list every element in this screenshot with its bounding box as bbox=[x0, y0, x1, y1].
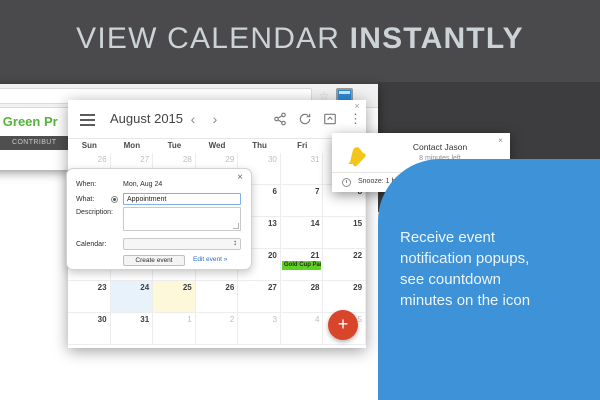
calendar-day-cell[interactable]: 28 bbox=[281, 281, 324, 313]
day-number: 21 bbox=[311, 251, 320, 260]
calendar-day-cell[interactable]: 14 bbox=[281, 217, 324, 249]
day-number: 27 bbox=[140, 155, 149, 164]
calendar-day-cell[interactable]: 25 bbox=[153, 281, 196, 313]
day-number: 25 bbox=[183, 283, 192, 292]
day-number: 15 bbox=[353, 219, 362, 228]
calendar-day-cell[interactable]: 1 bbox=[153, 313, 196, 345]
calendar-day-cell[interactable]: 24 bbox=[111, 281, 154, 313]
day-number: 29 bbox=[225, 155, 234, 164]
hamburger-icon[interactable] bbox=[80, 114, 95, 125]
day-number: 28 bbox=[183, 155, 192, 164]
day-number: 30 bbox=[268, 155, 277, 164]
calendar-day-cell[interactable]: 26 bbox=[196, 281, 239, 313]
banner-title: VIEW CALENDAR INSTANTLY bbox=[0, 22, 600, 56]
weekday-thu: Thu bbox=[238, 139, 281, 153]
more-options-icon[interactable]: ⋮ bbox=[348, 112, 363, 127]
day-number: 6 bbox=[272, 187, 276, 196]
calendar-day-cell[interactable]: 23 bbox=[68, 281, 111, 313]
day-number: 4 bbox=[315, 315, 319, 324]
weekday-fri: Fri bbox=[281, 139, 324, 153]
promo-panel: Receive event notification popups, see c… bbox=[378, 159, 600, 400]
bell-icon bbox=[344, 145, 370, 169]
day-number: 20 bbox=[268, 251, 277, 260]
calendar-day-cell[interactable]: 30 bbox=[68, 313, 111, 345]
day-number: 22 bbox=[353, 251, 362, 260]
calendar-day-cell[interactable]: 21Gold Cup Para bbox=[281, 249, 324, 281]
screenshot-stage: VIEW CALENDAR INSTANTLY ☆ he Green Pr SS… bbox=[0, 0, 600, 400]
quick-add-event-bubble: × When: Mon, Aug 24 What: Appointment De… bbox=[66, 168, 252, 270]
weekday-tue: Tue bbox=[153, 139, 196, 153]
promo-line-3: see countdown bbox=[400, 269, 596, 290]
day-number: 31 bbox=[140, 315, 149, 324]
site-nav-item-2[interactable]: CONTRIBUT bbox=[12, 139, 56, 146]
calendar-day-cell[interactable]: 27 bbox=[238, 281, 281, 313]
description-label: Description: bbox=[76, 209, 113, 216]
weekday-sun: Sun bbox=[68, 139, 111, 153]
weekday-mon: Mon bbox=[111, 139, 154, 153]
calendar-day-cell[interactable]: 15 bbox=[323, 217, 366, 249]
when-value: Mon, Aug 24 bbox=[123, 181, 162, 188]
banner-title-light: VIEW CALENDAR bbox=[76, 22, 350, 55]
share-icon[interactable] bbox=[273, 112, 288, 127]
calendar-day-cell[interactable]: 22 bbox=[323, 249, 366, 281]
day-number: 27 bbox=[268, 283, 277, 292]
next-month-button[interactable]: › bbox=[208, 111, 222, 127]
calendar-week-row: 23242526272829 bbox=[68, 281, 366, 313]
day-number: 5 bbox=[358, 315, 362, 324]
when-label: When: bbox=[76, 181, 96, 188]
calendar-label: Calendar: bbox=[76, 241, 106, 248]
what-label: What: bbox=[76, 196, 94, 203]
promo-banner: VIEW CALENDAR INSTANTLY bbox=[0, 0, 600, 82]
event-chip[interactable]: Gold Cup Para bbox=[282, 261, 322, 270]
month-label: August 2015 bbox=[110, 111, 183, 126]
day-number: 7 bbox=[315, 187, 319, 196]
day-number: 14 bbox=[311, 219, 320, 228]
close-icon[interactable]: × bbox=[235, 173, 245, 183]
description-input[interactable] bbox=[123, 207, 241, 231]
day-number: 30 bbox=[98, 315, 107, 324]
refresh-icon[interactable] bbox=[298, 112, 313, 127]
weekday-wed: Wed bbox=[196, 139, 239, 153]
day-number: 29 bbox=[353, 283, 362, 292]
day-number: 23 bbox=[98, 283, 107, 292]
calendar-week-row: 303112345 bbox=[68, 313, 366, 345]
prev-month-button[interactable]: ‹ bbox=[186, 111, 200, 127]
weekday-header-row: SunMonTueWedThuFriSat bbox=[68, 139, 366, 153]
create-event-button[interactable]: Create event bbox=[123, 255, 185, 266]
calendar-day-cell[interactable]: 29 bbox=[323, 281, 366, 313]
calendar-day-cell[interactable]: 31 bbox=[281, 153, 324, 185]
notification-title: Contact Jason bbox=[380, 142, 500, 152]
promo-line-4: minutes on the icon bbox=[400, 290, 596, 311]
promo-text: Receive event notification popups, see c… bbox=[400, 227, 596, 311]
clock-icon bbox=[342, 178, 351, 187]
day-number: 13 bbox=[268, 219, 277, 228]
calendar-select[interactable] bbox=[123, 238, 241, 250]
day-number: 26 bbox=[225, 283, 234, 292]
calendar-day-cell[interactable]: 31 bbox=[111, 313, 154, 345]
calendar-header: August 2015 ‹ › ⋮ bbox=[68, 108, 366, 136]
calendar-day-cell[interactable]: 3 bbox=[238, 313, 281, 345]
day-number: 24 bbox=[140, 283, 149, 292]
day-number: 2 bbox=[230, 315, 234, 324]
banner-title-bold: INSTANTLY bbox=[350, 22, 524, 55]
event-type-radio[interactable] bbox=[111, 196, 118, 203]
day-number: 31 bbox=[311, 155, 320, 164]
day-number: 1 bbox=[187, 315, 191, 324]
open-in-new-icon[interactable] bbox=[323, 112, 338, 127]
calendar-day-cell[interactable]: 4 bbox=[281, 313, 324, 345]
edit-event-link[interactable]: Edit event » bbox=[193, 256, 227, 263]
calendar-day-cell[interactable]: 2 bbox=[196, 313, 239, 345]
add-event-fab[interactable]: + bbox=[328, 310, 358, 340]
site-logo: he Green Pr bbox=[0, 114, 58, 129]
day-number: 3 bbox=[272, 315, 276, 324]
what-input[interactable]: Appointment bbox=[123, 193, 241, 205]
promo-line-2: notification popups, bbox=[400, 248, 596, 269]
calendar-day-cell[interactable]: 7 bbox=[281, 185, 324, 217]
promo-line-1: Receive event bbox=[400, 227, 596, 248]
day-number: 26 bbox=[98, 155, 107, 164]
day-number: 28 bbox=[311, 283, 320, 292]
